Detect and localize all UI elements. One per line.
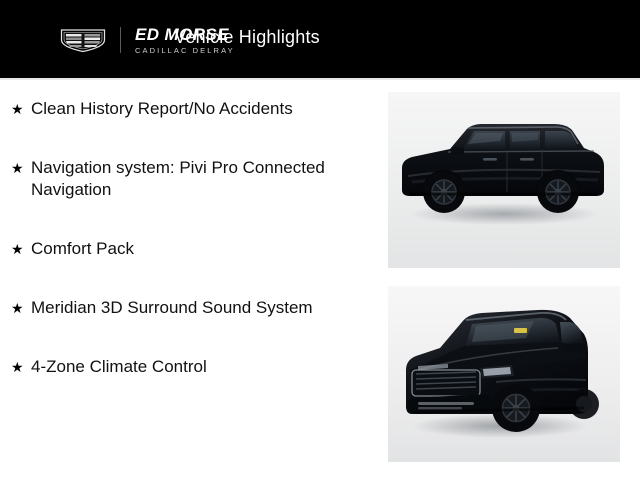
list-item-label: Comfort Pack [31,238,361,260]
list-item-label: 4-Zone Climate Control [31,356,361,378]
vehicle-photo-front-three-quarter[interactable] [388,286,620,462]
list-item: ★ 4-Zone Climate Control [10,356,370,378]
header-divider-rule [0,78,640,80]
list-item: ★ Comfort Pack [10,238,370,260]
star-bullet-icon: ★ [10,98,31,120]
list-item-label: Clean History Report/No Accidents [31,98,361,120]
star-bullet-icon: ★ [10,356,31,378]
list-item-label: Navigation system: Pivi Pro Connected Na… [31,157,361,201]
list-item-label: Meridian 3D Surround Sound System [31,297,361,319]
list-item: ★ Navigation system: Pivi Pro Connected … [10,157,370,201]
vehicle-photo-side-profile[interactable] [388,92,620,268]
star-bullet-icon: ★ [10,297,31,319]
list-item: ★ Clean History Report/No Accidents [10,98,370,120]
page-header: ED MORSE CADILLAC DELRAY Vehicle Highlig… [0,0,640,78]
list-item: ★ Meridian 3D Surround Sound System [10,297,370,319]
vehicle-highlights-list: ★ Clean History Report/No Accidents ★ Na… [10,98,370,378]
star-bullet-icon: ★ [10,238,31,260]
star-bullet-icon: ★ [10,157,31,179]
page-title: Vehicle Highlights [0,27,567,48]
